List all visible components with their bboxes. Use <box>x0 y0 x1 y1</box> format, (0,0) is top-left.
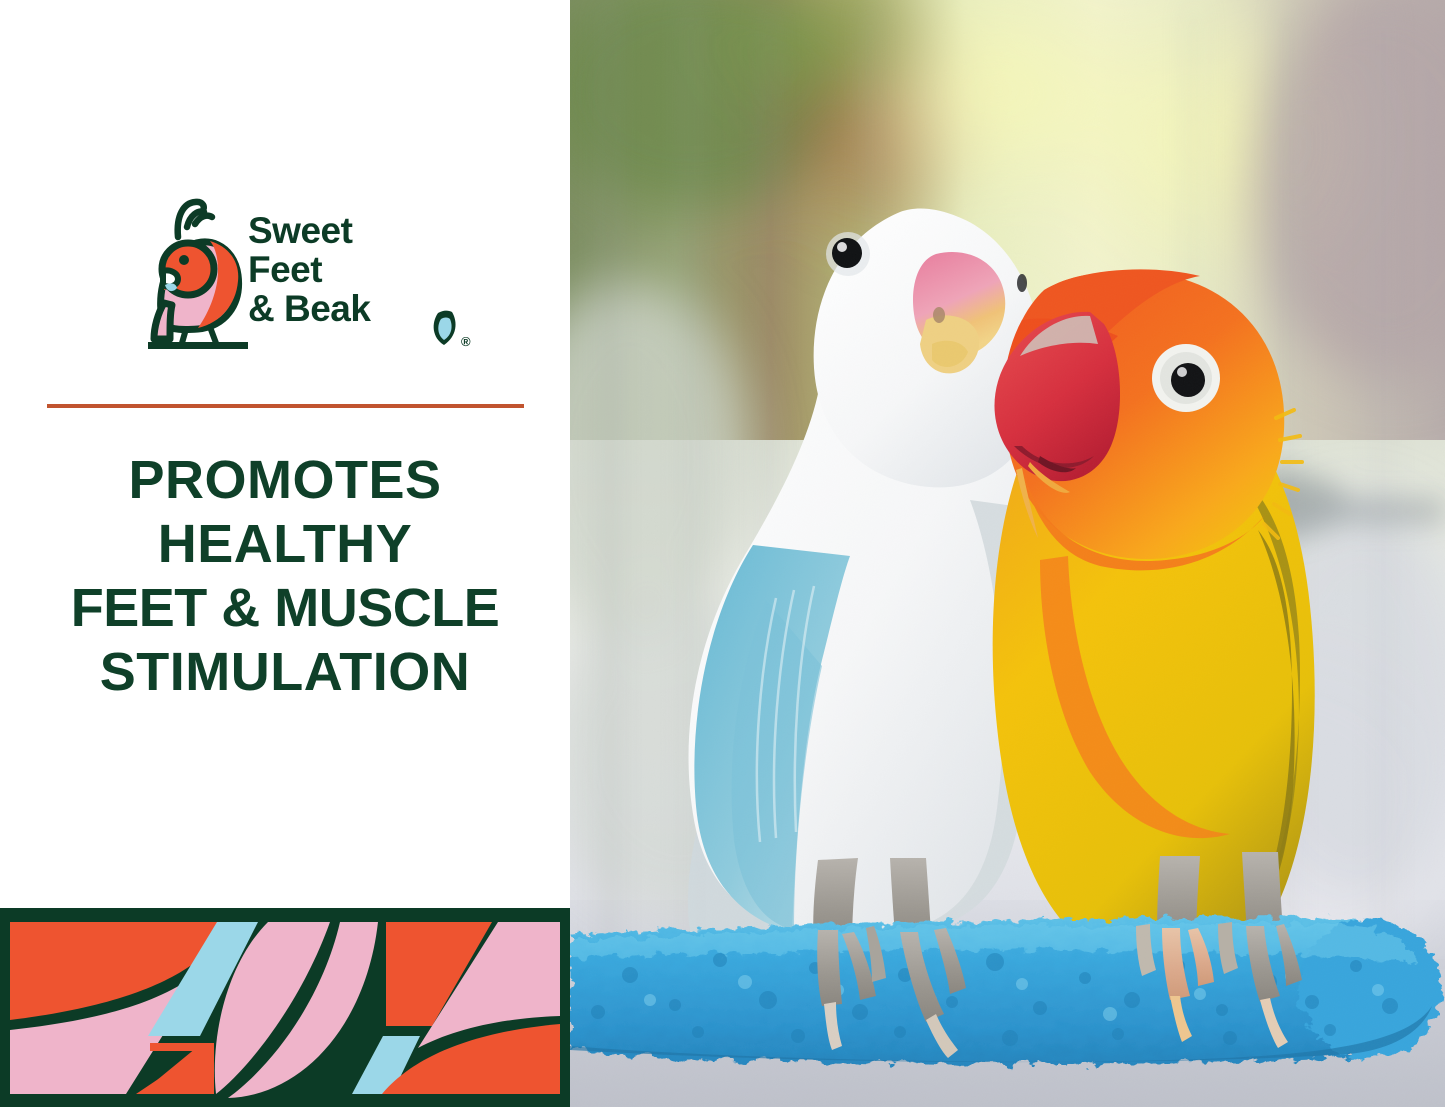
brand-logo: Sweet Feet & Beak ® <box>140 193 460 358</box>
page-title: PROMOTES HEALTHY FEET & MUSCLE STIMULATI… <box>20 448 550 704</box>
left-info-panel: Sweet Feet & Beak ® PROMOTES HEALTHY FEE… <box>0 0 570 1107</box>
registered-trademark-mark: ® <box>461 334 471 349</box>
stained-glass-pattern <box>0 908 570 1107</box>
product-feature-image: Sweet Feet & Beak ® PROMOTES HEALTHY FEE… <box>0 0 1445 1107</box>
headline-line-3: FEET & MUSCLE <box>20 576 550 640</box>
divider-rule <box>47 404 524 408</box>
product-photo <box>570 0 1445 1107</box>
parrot-logo-icon <box>140 193 248 358</box>
logo-line-2: Feet <box>248 250 463 289</box>
leaf-icon <box>427 310 461 348</box>
photo-canvas <box>570 0 1445 1107</box>
headline-line-1: PROMOTES <box>20 448 550 512</box>
logo-line-1: Sweet <box>248 211 463 250</box>
headline-line-2: HEALTHY <box>20 512 550 576</box>
headline-line-4: STIMULATION <box>20 640 550 704</box>
